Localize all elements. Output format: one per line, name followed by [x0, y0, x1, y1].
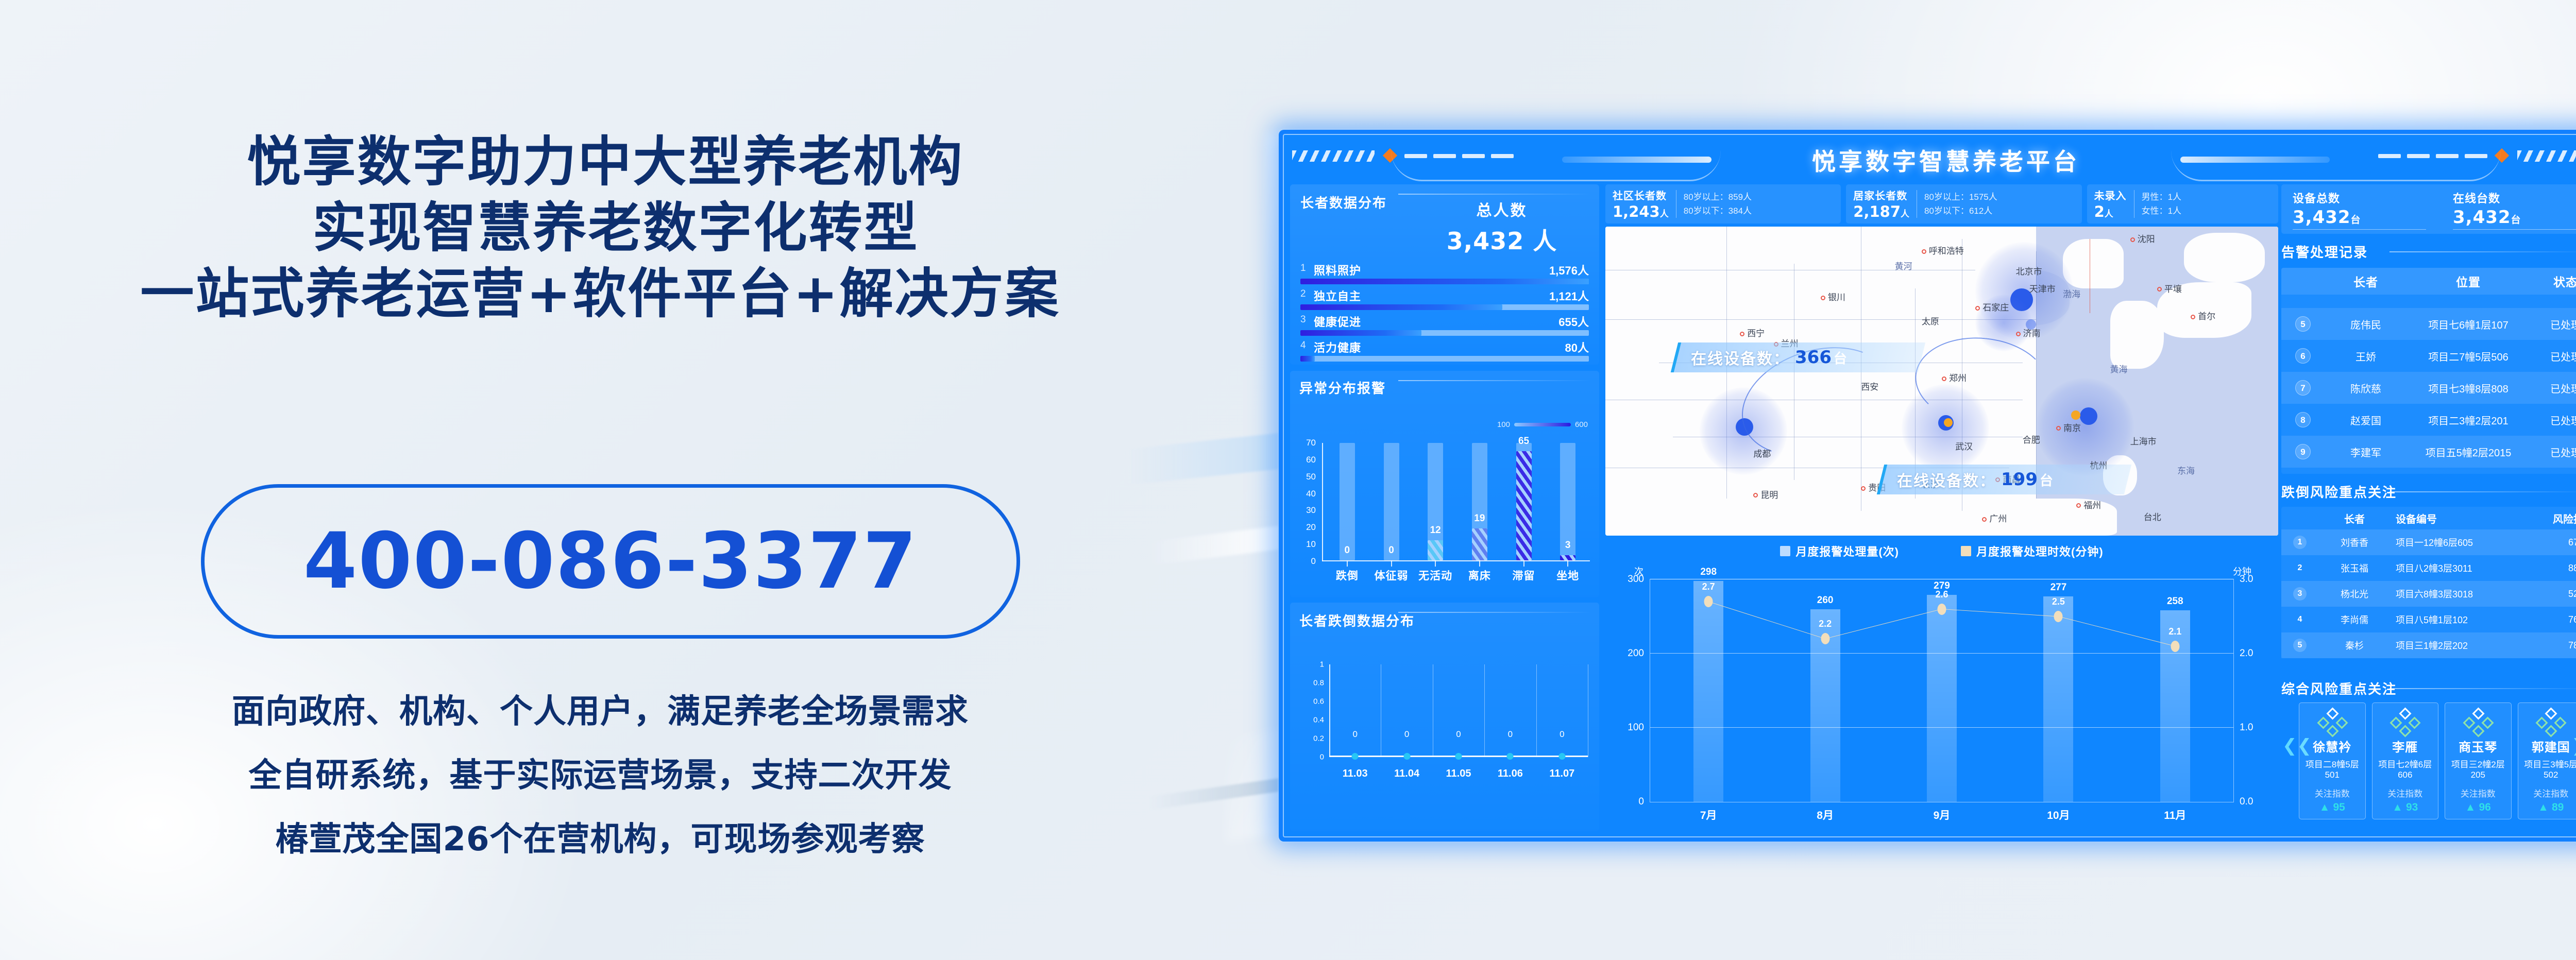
- map-city-label: 济南: [2016, 326, 2041, 339]
- map-border-1: [1605, 319, 2036, 320]
- monthly-line-point: [1938, 604, 1946, 615]
- center-column: 社区长者数 1,243人 80岁以上：859人80岁以下：384人 居家长者数 …: [1605, 184, 2278, 831]
- device-stat-label: 在线台数: [2453, 190, 2576, 206]
- map-city-label: 福州: [2076, 498, 2101, 511]
- abnormal-bars: 0 0 12 19 65 3: [1325, 443, 1590, 560]
- stat-subgroup: 80岁以上：1575人80岁以下：612人: [1917, 190, 1997, 218]
- abnormal-alarm-panel: 异常分布报警 100 600 010203040506070 0 0 12 1: [1290, 371, 1599, 597]
- table-row[interactable]: 1 刘香香 项目一12幢6层605 67: [2281, 529, 2576, 555]
- abnormal-bar-fill: [1428, 540, 1443, 560]
- elder-category: 独立自主: [1314, 287, 1361, 304]
- monthly-line-point: [2171, 641, 2179, 652]
- device-stat-card: 设备总数 3,432台: [2281, 184, 2442, 234]
- abnormal-y-tick: 20: [1306, 522, 1316, 533]
- abnormal-bar-label: 0: [1388, 545, 1394, 556]
- alarm-records-table[interactable]: 长者 位置 状态 5 庞伟民 项目七6幢1层107 已处理6 王娇 项目二7幢5…: [2281, 268, 2576, 474]
- map-node-shanghai-center: [2071, 410, 2080, 420]
- fall-y-tick: 0.8: [1313, 679, 1324, 688]
- stat-sub-line: 80岁以下：384人: [1684, 204, 1752, 218]
- monthly-y-tick-left: 100: [1628, 722, 1644, 733]
- risk-th-device: 设备编号: [2391, 511, 2545, 526]
- marketing-column: 悦享数字助力中大型养老机构 实现智慧养老数字化转型 一站式养老运营+软件平台+解…: [0, 0, 1236, 960]
- abnormal-x-tick: [1435, 560, 1436, 567]
- alarm-status: 已处理: [2530, 349, 2576, 364]
- map-border-10: [1605, 270, 1975, 270]
- overall-risk-panel: 综合风险重点关注 ❮❮ ❯❯ 徐慧衿 项目二8幢5层501 关注指数 ▲95 李…: [2281, 679, 2576, 831]
- alarm-table-body: 5 庞伟民 项目七6幢1层107 已处理6 王娇 项目二7幢5层506 已处理7…: [2281, 295, 2576, 474]
- risk-device-id: 项目一12幢6层605: [2391, 536, 2545, 549]
- risk-index: 4: [2281, 613, 2318, 626]
- abnormal-axis-vertical: [1322, 443, 1323, 561]
- title-rule: [1398, 380, 1591, 381]
- abnormal-bar-fill: [1516, 451, 1532, 560]
- alarm-status: 已处理: [2530, 413, 2576, 427]
- focus-location: 项目七2幢6层606: [2375, 757, 2436, 780]
- alarm-index: 5: [2281, 316, 2325, 332]
- abnormal-y-tick: 30: [1306, 505, 1316, 516]
- focus-card[interactable]: 徐慧衿 项目二8幢5层501 关注指数 ▲95: [2299, 702, 2366, 819]
- fall-y-tick: 0.6: [1313, 697, 1324, 706]
- headline-line-3: 一站式养老运营+软件平台+解决方案: [0, 261, 1200, 327]
- focus-card[interactable]: 李雁 项目七2幢6层606 关注指数 ▲93: [2372, 702, 2439, 819]
- abnormal-x-tick: [1347, 560, 1348, 567]
- triangle-up-icon: ▲: [2465, 801, 2476, 813]
- elder-rank: 4: [1300, 340, 1306, 351]
- stat-card: 居家长者数 2,187人 80岁以上：1575人80岁以下：612人: [1846, 184, 2081, 224]
- map-city-label: 合肥: [2023, 433, 2040, 445]
- stat-subgroup: 80岁以上：859人80岁以下：384人: [1676, 190, 1752, 218]
- bullet-3: 椿萱茂全国26个在营机构，可现场参观考察: [0, 808, 1200, 871]
- map-city-label: 武汉: [1955, 439, 1973, 452]
- device-stat-rule: [2293, 229, 2426, 230]
- monthly-gridline: [1650, 579, 2233, 579]
- map-node-wuhan-center: [1944, 418, 1953, 427]
- alarm-location: 项目二7幢5层506: [2407, 349, 2530, 364]
- diamond-cluster-icon: [2520, 709, 2576, 737]
- abnormal-x-tick: [1391, 560, 1392, 567]
- fall-gridline: [1588, 664, 1588, 757]
- elder-bar-track: [1300, 304, 1589, 310]
- focus-name: 李雁: [2375, 737, 2436, 755]
- elder-bar-track: [1300, 356, 1589, 362]
- focus-metric-label: 关注指数: [2301, 786, 2363, 799]
- risk-elder-name: 刘香香: [2318, 536, 2391, 549]
- title-rule: [2389, 251, 2576, 252]
- abnormal-bar-label: 12: [1430, 525, 1441, 536]
- map-city-label: 西安: [1861, 380, 1878, 392]
- fall-distribution-title: 长者跌倒数据分布: [1299, 611, 1590, 630]
- alarm-index: 6: [2281, 348, 2325, 364]
- device-stat-rule: [2453, 229, 2576, 230]
- map-node-shanghai: [2080, 407, 2097, 425]
- abnormal-bar-label: 19: [1474, 513, 1485, 524]
- legend-swatch: [1780, 546, 1790, 556]
- fall-x-label: 11.06: [1498, 768, 1523, 780]
- map-badge-value-1: 366: [1795, 347, 1832, 368]
- alarm-elder-name: 赵爱国: [2325, 413, 2407, 427]
- monthly-y-tick-left: 300: [1628, 574, 1644, 585]
- map-pin-icon: [2056, 426, 2061, 431]
- risk-elder-name: 张玉福: [2318, 561, 2391, 575]
- abnormal-y-tick: 10: [1306, 539, 1316, 550]
- risk-score: 78: [2545, 640, 2576, 651]
- elder-rank: 2: [1300, 288, 1306, 300]
- map-pin-icon: [2016, 332, 2021, 336]
- left-panel-column: 长者数据分布 总人数 3,432 人 1 照料照护 1,576人 2 独立自主 …: [1290, 184, 1599, 831]
- focus-card[interactable]: 郭建国 项目三3幢5层502 关注指数 ▲89: [2518, 702, 2576, 819]
- abnormal-x-label: 离床: [1458, 568, 1502, 583]
- map-land-korea: [2110, 301, 2164, 369]
- abnormal-x-tick: [1479, 560, 1480, 567]
- legend-gradient-bar: [1514, 423, 1571, 426]
- phone-cta-button[interactable]: 400-086-3377: [201, 484, 1020, 639]
- dashboard-title: 悦享数字智慧养老平台: [1284, 143, 2576, 177]
- monthly-x-label: 10月: [2047, 807, 2070, 822]
- monthly-x-label: 7月: [1700, 807, 1717, 822]
- risk-score: 52: [2545, 589, 2576, 599]
- device-stat-label: 设备总数: [2293, 190, 2442, 206]
- risk-elder-name: 李尚儒: [2318, 613, 2391, 626]
- abnormal-x-tick: [1523, 560, 1524, 567]
- fall-data-point: [1455, 753, 1462, 760]
- fall-point-label: 0: [1456, 729, 1461, 740]
- abnormal-bar-track: [1384, 443, 1399, 560]
- legend-label: 月度报警处理时效(分钟): [1976, 543, 2104, 559]
- map-pin-icon: [1753, 493, 1758, 498]
- map-city-label: 石家庄: [1975, 300, 2009, 313]
- table-row[interactable]: [2281, 295, 2576, 308]
- china-map[interactable]: 沈阳呼和浩特北京市天津市黄河平壤首尔银川石家庄渤海太原西宁兰州济南黄海郑州西安成…: [1605, 227, 2278, 536]
- alarm-th-elder: 长者: [2325, 272, 2407, 290]
- alarm-table-header: 长者 位置 状态: [2281, 268, 2576, 295]
- diamond-cluster-icon: [2301, 709, 2363, 737]
- monthly-x-label: 11月: [2164, 807, 2186, 822]
- headline-block: 悦享数字助力中大型养老机构 实现智慧养老数字化转型 一站式养老运营+软件平台+解…: [0, 129, 1200, 327]
- monthly-gridline: [1650, 727, 2233, 728]
- table-row[interactable]: 3 杨北光 项目六8幢3层3018 52: [2281, 581, 2576, 607]
- elder-category: 健康促进: [1314, 313, 1361, 330]
- table-row[interactable]: 5 秦杉 项目三1幢2层202 78: [2281, 632, 2576, 658]
- map-border-national: [2090, 239, 2090, 313]
- abnormal-y-axis: 010203040506070: [1295, 443, 1320, 561]
- fall-risk-table-body: 1 刘香香 项目一12幢6层605 672 张玉福 项目八2幢3层3011 88…: [2281, 529, 2576, 658]
- elder-total: 总人数 3,432 人: [1417, 198, 1587, 256]
- fall-y-tick: 1: [1320, 660, 1324, 669]
- title-rule: [1398, 194, 1591, 195]
- focus-metric-label: 关注指数: [2520, 786, 2576, 799]
- device-stats-strip: 设备总数 3,432台 在线台数 3,432台: [2281, 184, 2576, 234]
- abnormal-axis-horizontal: [1322, 560, 1590, 561]
- fall-point-label: 0: [1352, 729, 1357, 740]
- map-pin-icon: [1975, 306, 1980, 311]
- fall-point-label: 0: [1560, 729, 1564, 740]
- monthly-line-point: [1821, 633, 1829, 644]
- focus-location: 项目三2幢2层205: [2447, 757, 2509, 780]
- fall-gridline: [1484, 664, 1485, 757]
- diamond-cluster-icon: [2375, 709, 2436, 737]
- map-pin-icon: [1861, 486, 1866, 491]
- monthly-y-tick-left: 200: [1628, 648, 1644, 659]
- fall-risk-table-header: 长者 设备编号 风险指数: [2281, 507, 2576, 529]
- stat-sub-line: 男性：1人: [2142, 190, 2181, 204]
- focus-card-list: 徐慧衿 项目二8幢5层501 关注指数 ▲95 李雁 项目七2幢6层606 关注…: [2299, 702, 2576, 819]
- diamond-cluster-icon: [2447, 709, 2509, 737]
- fall-gridline: [1381, 664, 1381, 757]
- fall-x-label: 11.03: [1343, 768, 1368, 780]
- abnormal-bar-label: 65: [1518, 436, 1529, 447]
- alarm-location: 项目二3幢2层201: [2407, 413, 2530, 427]
- elder-distribution-row: 1 照料照护 1,576人: [1300, 262, 1589, 287]
- fall-data-point: [1352, 753, 1359, 760]
- map-pin-icon: [1740, 332, 1744, 336]
- abnormal-bar-cell: 19: [1458, 443, 1502, 560]
- focus-metric-value: ▲96: [2447, 801, 2509, 814]
- monthly-legend: 月度报警处理量(次) 月度报警处理时效(分钟): [1605, 540, 2278, 559]
- focus-metric-value: ▲95: [2301, 801, 2363, 814]
- monthly-y-tick-right: 2.0: [2240, 648, 2253, 659]
- risk-th-elder: 长者: [2318, 511, 2391, 526]
- focus-metric-label: 关注指数: [2375, 786, 2436, 799]
- map-city-label: 上海市: [2130, 434, 2157, 447]
- fall-x-label: 11.05: [1446, 768, 1471, 780]
- table-row[interactable]: 5 庞伟民 项目七6幢1层107 已处理: [2281, 308, 2576, 340]
- monthly-y-tick-right: 3.0: [2240, 574, 2253, 585]
- abnormal-bar-cell: 0: [1325, 443, 1369, 560]
- table-row[interactable]: 7 陈欣慈 项目七3幢8层808 已处理: [2281, 372, 2576, 404]
- monthly-x-label: 8月: [1817, 807, 1834, 822]
- table-row[interactable]: 10 楚海涛 项目九8幢7层702 已处理: [2281, 468, 2576, 474]
- device-stat-value: 3,432台: [2293, 207, 2442, 228]
- table-row[interactable]: 9 李建军 项目五5幢2层2015 已处理: [2281, 436, 2576, 468]
- map-pin-icon: [2157, 287, 2162, 292]
- table-row[interactable]: 8 赵爱国 项目二3幢2层201 已处理: [2281, 404, 2576, 436]
- monthly-x-label: 9月: [1934, 807, 1951, 822]
- map-city-label: 郑州: [1942, 371, 1967, 384]
- map-halo-shanghai: [2036, 378, 2134, 476]
- fall-y-tick: 0.2: [1313, 734, 1324, 743]
- map-pin-icon: [2130, 237, 2135, 242]
- elder-category: 照料照护: [1314, 262, 1361, 278]
- focus-location: 项目二8幢5层501: [2301, 757, 2363, 780]
- risk-index: 3: [2281, 587, 2318, 601]
- title-rule: [2389, 688, 2576, 689]
- map-badge-online-2: 在线设备数： 199 台: [1877, 465, 2131, 494]
- map-city-label: 成都: [1753, 447, 1771, 459]
- table-row[interactable]: 2 张玉福 项目八2幢3层3011 88: [2281, 555, 2576, 581]
- abnormal-bar-label: 3: [1565, 540, 1571, 551]
- stat-value: 2,187人: [1853, 203, 1909, 220]
- risk-score: 76: [2545, 614, 2576, 625]
- fall-gridline: [1433, 664, 1433, 757]
- headline-line-2: 实现智慧养老数字化转型: [0, 195, 1200, 261]
- stat-label: 居家长者数: [1853, 187, 1909, 202]
- abnormal-bar-cell: 3: [1546, 443, 1590, 560]
- elder-value: 80人: [1565, 339, 1589, 355]
- risk-device-id: 项目六8幢3层3018: [2391, 587, 2545, 601]
- fall-risk-panel: 跌倒风险重点关注 长者 设备编号 风险指数 1 刘香香 项目一12幢6层605 …: [2281, 482, 2576, 674]
- legend-swatch: [1961, 546, 1971, 556]
- alarm-elder-name: 李建军: [2325, 444, 2407, 459]
- map-city-label: 沈阳: [2130, 232, 2155, 245]
- abnormal-bar-cell: 12: [1413, 443, 1458, 560]
- map-city-label: 西宁: [1740, 326, 1765, 339]
- alarm-index: 8: [2281, 412, 2325, 427]
- risk-th-score: 风险指数: [2545, 511, 2576, 526]
- abnormal-x-labels: 跌倒体征弱无活动离床滞留坐地: [1325, 568, 1590, 583]
- alarm-location: 项目五5幢2层2015: [2407, 444, 2530, 459]
- map-pin-icon: [2076, 503, 2081, 508]
- abnormal-x-label: 坐地: [1546, 568, 1590, 583]
- map-city-label: 黄河: [1895, 259, 1912, 272]
- elder-bar-track: [1300, 279, 1589, 284]
- abnormal-y-tick: 50: [1306, 472, 1316, 482]
- elder-total-label: 总人数: [1417, 198, 1587, 220]
- alarm-location: 项目七3幢8层808: [2407, 381, 2530, 396]
- abnormal-legend: 100 600: [1497, 420, 1588, 429]
- map-land-japan-n: [2184, 233, 2265, 282]
- elder-bar-track: [1300, 330, 1589, 336]
- map-city-label: 东海: [2177, 464, 2195, 476]
- monthly-bar-value: 298: [1700, 567, 1717, 578]
- risk-index: 2: [2281, 561, 2318, 575]
- fall-data-point: [1507, 753, 1514, 760]
- map-city-label: 首尔: [2191, 309, 2215, 322]
- table-row[interactable]: 4 李尚儒 项目八5幢1层102 76: [2281, 607, 2576, 632]
- monthly-legend-item[interactable]: 月度报警处理时效(分钟): [1961, 543, 2104, 559]
- map-city-label: 黄海: [2110, 362, 2128, 375]
- abnormal-x-label: 滞留: [1502, 568, 1546, 583]
- fall-distribution-panel: 长者跌倒数据分布 00.20.40.60.81011.03011.04011.0…: [1290, 603, 1599, 831]
- focus-name: 郭建国: [2520, 737, 2576, 755]
- elder-distribution-panel: 长者数据分布 总人数 3,432 人 1 照料照护 1,576人 2 独立自主 …: [1290, 184, 1599, 365]
- abnormal-x-label: 跌倒: [1325, 568, 1369, 583]
- focus-metric-value: ▲93: [2375, 801, 2436, 814]
- fall-y-tick: 0.4: [1313, 716, 1324, 725]
- bullet-1: 面向政府、机构、个人用户，满足养老全场景需求: [0, 680, 1200, 744]
- table-row[interactable]: 6 王娇 项目二7幢5层506 已处理: [2281, 340, 2576, 372]
- map-badge-unit-1: 台: [1834, 348, 1847, 367]
- map-badge-label-2: 在线设备数：: [1897, 468, 1996, 491]
- title-rule: [1398, 612, 1591, 613]
- monthly-y-tick-left: 0: [1638, 796, 1644, 808]
- stat-label: 社区长者数: [1613, 187, 1669, 202]
- stat-subgroup: 男性：1人女性：1人: [2134, 190, 2181, 218]
- fall-y-tick: 0: [1320, 753, 1324, 762]
- abnormal-y-tick: 0: [1311, 556, 1316, 567]
- abnormal-bar-track: [1340, 443, 1355, 560]
- map-pin-icon: [2191, 315, 2195, 319]
- alarm-status: 已处理: [2530, 444, 2576, 459]
- focus-location: 项目三3幢5层502: [2520, 757, 2576, 780]
- map-city-label: 台北: [2144, 510, 2161, 523]
- abnormal-y-tick: 40: [1306, 489, 1316, 499]
- alarm-elder-name: 庞伟民: [2325, 317, 2407, 332]
- risk-device-id: 项目八2幢3层3011: [2391, 561, 2545, 575]
- focus-metric-label: 关注指数: [2447, 786, 2509, 799]
- risk-elder-name: 秦杉: [2318, 639, 2391, 652]
- alarm-elder-name: 陈欣慈: [2325, 381, 2407, 396]
- legend-label: 月度报警处理量(次): [1795, 543, 1899, 559]
- risk-score: 67: [2545, 537, 2576, 548]
- alarm-status: 已处理: [2530, 317, 2576, 332]
- elder-distribution-row: 3 健康促进 655人: [1300, 313, 1589, 339]
- right-panel-column: 设备总数 3,432台 在线台数 3,432台 告警处理记录 长者 位置 状态 …: [2281, 184, 2576, 831]
- headline-line-1: 悦享数字助力中大型养老机构: [0, 129, 1200, 195]
- stat-card: 社区长者数 1,243人 80岁以上：859人80岁以下：384人: [1605, 184, 1841, 224]
- triangle-up-icon: ▲: [2392, 801, 2403, 813]
- map-city-label: 平壤: [2157, 282, 2182, 295]
- map-pin-icon: [1821, 296, 1825, 300]
- abnormal-bar-fill: [1560, 555, 1575, 560]
- alarm-index: 7: [2281, 380, 2325, 396]
- risk-device-id: 项目三1幢2层202: [2391, 639, 2545, 652]
- map-badge-online-1: 在线设备数： 366 台: [1671, 342, 1925, 372]
- stat-label: 未录入: [2094, 187, 2127, 202]
- elder-distribution-row: 4 活力健康 80人: [1300, 339, 1589, 365]
- triangle-up-icon: ▲: [2538, 801, 2549, 813]
- focus-card[interactable]: 商玉琴 项目三2幢2层205 关注指数 ▲96: [2445, 702, 2512, 819]
- abnormal-bar-label: 0: [1345, 545, 1350, 556]
- device-stat-card: 在线台数 3,432台: [2442, 184, 2576, 234]
- map-city-label: 昆明: [1753, 488, 1778, 501]
- fall-point-label: 0: [1404, 729, 1409, 740]
- stat-sub-line: 80岁以上：1575人: [1924, 190, 1997, 204]
- elder-rank: 1: [1300, 263, 1306, 274]
- stat-sub-line: 80岁以下：612人: [1924, 204, 1997, 218]
- monthly-y-tick-right: 0.0: [2240, 796, 2253, 808]
- alarm-index: 9: [2281, 444, 2325, 459]
- map-city-label: 广州: [1982, 511, 2007, 524]
- fall-plot-area: 00.20.40.60.81011.03011.04011.05011.0601…: [1329, 664, 1588, 757]
- fall-x-label: 11.04: [1394, 768, 1419, 780]
- device-stat-value: 3,432台: [2453, 207, 2576, 228]
- elder-value: 655人: [1558, 313, 1589, 330]
- alarm-th-status: 状态: [2530, 272, 2576, 290]
- monitor-frame: 悦享数字智慧养老平台 长者数据分布 总人数 3,432 人 1 照料照护 1,5…: [1279, 130, 2576, 842]
- fall-risk-table[interactable]: 长者 设备编号 风险指数 1 刘香香 项目一12幢6层605 672 张玉福 项…: [2281, 507, 2576, 658]
- monthly-line-point: [2054, 611, 2063, 622]
- fall-data-point: [1558, 753, 1565, 760]
- abnormal-x-tick: [1567, 560, 1568, 567]
- risk-index: 1: [2281, 536, 2318, 549]
- map-pin-icon: [1982, 517, 1987, 522]
- legend-min-value: 100: [1497, 420, 1510, 429]
- risk-elder-name: 杨北光: [2318, 587, 2391, 601]
- alarm-location: 项目七6幢1层107: [2407, 317, 2530, 332]
- map-city-label: 渤海: [2063, 287, 2080, 300]
- elder-bar-fill: [1300, 330, 1421, 336]
- risk-index: 5: [2281, 639, 2318, 652]
- focus-name: 商玉琴: [2447, 737, 2509, 755]
- abnormal-bar-cell: 0: [1369, 443, 1414, 560]
- alarm-elder-name: 王娇: [2325, 349, 2407, 364]
- bullet-list: 面向政府、机构、个人用户，满足养老全场景需求 全自研系统，基于实际运营场景，支持…: [0, 680, 1200, 871]
- map-city-label: 太原: [1922, 314, 1939, 327]
- stat-value: 2人: [2094, 203, 2127, 220]
- stat-sub-line: 女性：1人: [2142, 204, 2181, 218]
- fall-axis-vertical: [1329, 664, 1330, 757]
- elder-distribution-row: 2 独立自主 1,121人: [1300, 287, 1589, 313]
- monthly-legend-item[interactable]: 月度报警处理量(次): [1780, 543, 1899, 559]
- alarm-th-location: 位置: [2407, 272, 2530, 290]
- fall-x-label: 11.07: [1549, 768, 1574, 780]
- phone-number: 400-086-3377: [303, 517, 918, 606]
- abnormal-bar-fill: [1472, 528, 1487, 560]
- monthly-line-value: 2.2: [1819, 619, 1832, 629]
- monthly-y-tick-right: 1.0: [2240, 722, 2253, 733]
- dashboard-screen: 悦享数字智慧养老平台 长者数据分布 总人数 3,432 人 1 照料照护 1,5…: [1283, 134, 2576, 837]
- abnormal-x-label: 无活动: [1413, 568, 1458, 583]
